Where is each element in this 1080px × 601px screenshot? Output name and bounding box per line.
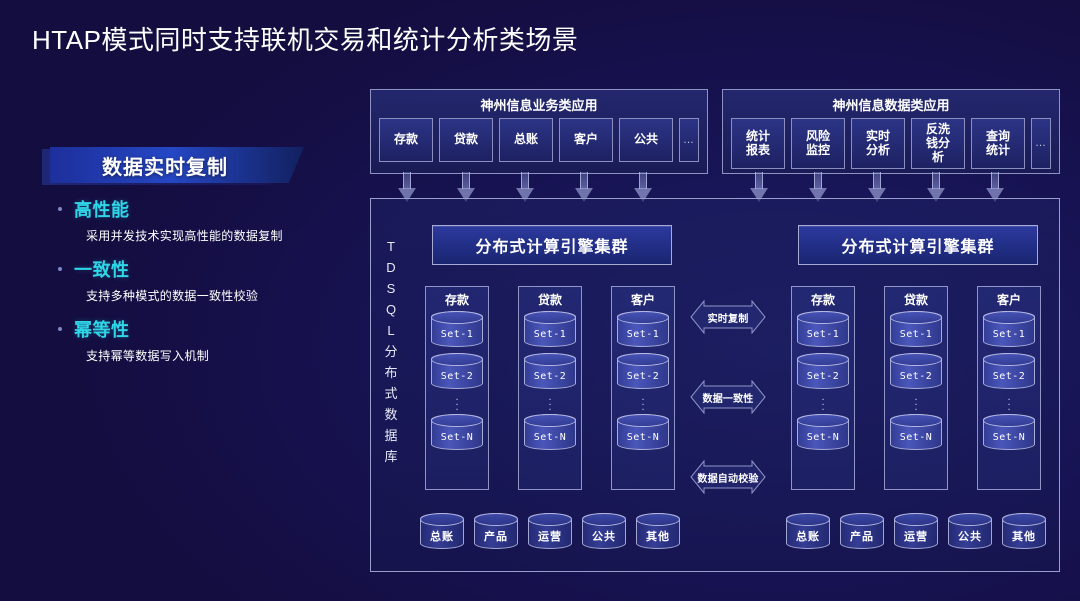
set-cylinder[interactable]: Set-1 [617, 311, 669, 347]
sync-arrow-data-consistency: 数据一致性 [690, 380, 766, 414]
set-label: Set-1 [618, 323, 668, 346]
set-cylinder[interactable]: Set-1 [890, 311, 942, 347]
set-label: Set-N [618, 426, 668, 449]
set-cylinder[interactable]: Set-N [983, 414, 1035, 450]
list-item: 幂等性 支持幂等数据写入机制 [58, 316, 358, 364]
sync-arrow-realtime-replication: 实时复制 [690, 300, 766, 334]
bullet-title: 幂等性 [74, 316, 130, 342]
feature-bullet-list: 高性能 采用并发技术实现高性能的数据复制 一致性 支持多种模式的数据一致性校验 … [58, 196, 358, 376]
tdsql-char: 式 [380, 383, 402, 404]
bottom-cylinder-ledger-right[interactable]: 总账 [786, 513, 830, 549]
sync-arrow-auto-verification: 数据自动校验 [690, 460, 766, 494]
bottom-cylinder-label: 公共 [949, 524, 991, 548]
bottom-cylinder-label: 产品 [475, 524, 517, 548]
set-column-title: 客户 [978, 291, 1040, 308]
set-column-title: 存款 [792, 291, 854, 308]
list-item: 高性能 采用并发技术实现高性能的数据复制 [58, 196, 358, 244]
set-label: Set-2 [618, 365, 668, 388]
vertical-dots-icon: ... [519, 395, 581, 410]
set-label: Set-N [984, 426, 1034, 449]
app-box-public[interactable]: 公共 [619, 118, 673, 162]
set-label: Set-N [891, 426, 941, 449]
set-label: Set-2 [984, 365, 1034, 388]
slide-canvas: HTAP模式同时支持联机交易和统计分析类场景 数据实时复制 高性能 采用并发技术… [0, 0, 1080, 601]
tdsql-char: Q [380, 299, 402, 320]
app-group-data: 神州信息数据类应用 统计报表 风险监控 实时分析 反洗钱分析 查询统计 … [722, 89, 1060, 174]
set-cylinder[interactable]: Set-N [890, 414, 942, 450]
set-cylinder[interactable]: Set-2 [890, 353, 942, 389]
set-column-title: 贷款 [519, 291, 581, 308]
bottom-cylinder-label: 总账 [787, 524, 829, 548]
bottom-cylinder-label: 其他 [1003, 524, 1045, 548]
bottom-cylinder-operation-right[interactable]: 运营 [894, 513, 938, 549]
bottom-cylinder-label: 总账 [421, 524, 463, 548]
bottom-cylinder-label: 其他 [637, 524, 679, 548]
vertical-dots-icon: ... [426, 395, 488, 410]
bottom-cylinder-label: 运营 [895, 524, 937, 548]
set-cylinder[interactable]: Set-N [797, 414, 849, 450]
vertical-dots-icon: ... [792, 395, 854, 410]
bullet-dot-icon [58, 207, 62, 211]
bottom-cylinder-public-right[interactable]: 公共 [948, 513, 992, 549]
bullet-title: 一致性 [74, 256, 130, 282]
bottom-cylinder-ledger-left[interactable]: 总账 [420, 513, 464, 549]
set-column-loan-left: 贷款 Set-1 Set-2 ... Set-N [518, 286, 582, 490]
set-label: Set-1 [432, 323, 482, 346]
tdsql-char: L [380, 320, 402, 341]
bullet-description: 支持多种模式的数据一致性校验 [86, 287, 358, 304]
tdsql-char: 据 [380, 425, 402, 446]
set-label: Set-2 [798, 365, 848, 388]
app-box-deposit[interactable]: 存款 [379, 118, 433, 162]
bottom-cylinder-product-right[interactable]: 产品 [840, 513, 884, 549]
set-label: Set-N [432, 426, 482, 449]
set-label: Set-1 [891, 323, 941, 346]
bottom-cylinder-label: 产品 [841, 524, 883, 548]
set-cylinder[interactable]: Set-2 [797, 353, 849, 389]
banner-shape: 数据实时复制 [50, 147, 304, 183]
app-box-more-icon[interactable]: … [679, 118, 699, 162]
set-cylinder[interactable]: Set-2 [431, 353, 483, 389]
app-box-more-icon[interactable]: … [1031, 118, 1051, 169]
set-label: Set-2 [525, 365, 575, 388]
app-box-realtime-analysis[interactable]: 实时分析 [851, 118, 905, 169]
app-group-title: 神州信息数据类应用 [723, 90, 1059, 118]
sync-arrow-label: 数据自动校验 [690, 460, 766, 494]
set-column-customer-right: 客户 Set-1 Set-2 ... Set-N [977, 286, 1041, 490]
bottom-cylinder-operation-left[interactable]: 运营 [528, 513, 572, 549]
set-cylinder[interactable]: Set-1 [524, 311, 576, 347]
app-box-ledger[interactable]: 总账 [499, 118, 553, 162]
app-box-query-statistics[interactable]: 查询统计 [971, 118, 1025, 169]
set-cylinder[interactable]: Set-N [524, 414, 576, 450]
bullet-description: 支持幂等数据写入机制 [86, 347, 358, 364]
set-label: Set-N [525, 426, 575, 449]
set-cylinder[interactable]: Set-2 [983, 353, 1035, 389]
bottom-cylinder-label: 运营 [529, 524, 571, 548]
set-cylinder[interactable]: Set-2 [524, 353, 576, 389]
engine-cluster-right[interactable]: 分布式计算引擎集群 [798, 225, 1038, 265]
bottom-cylinder-public-left[interactable]: 公共 [582, 513, 626, 549]
app-box-loan[interactable]: 贷款 [439, 118, 493, 162]
tdsql-char: 库 [380, 446, 402, 467]
engine-cluster-left[interactable]: 分布式计算引擎集群 [432, 225, 672, 265]
set-column-title: 客户 [612, 291, 674, 308]
tdsql-char: 布 [380, 362, 402, 383]
bullet-title: 高性能 [74, 196, 130, 222]
set-label: Set-1 [525, 323, 575, 346]
bottom-cylinder-product-left[interactable]: 产品 [474, 513, 518, 549]
app-group-business: 神州信息业务类应用 存款 贷款 总账 客户 公共 … [370, 89, 708, 174]
tdsql-char: D [380, 257, 402, 278]
vertical-dots-icon: ... [978, 395, 1040, 410]
bottom-cylinder-other-left[interactable]: 其他 [636, 513, 680, 549]
list-item: 一致性 支持多种模式的数据一致性校验 [58, 256, 358, 304]
set-column-customer-left: 客户 Set-1 Set-2 ... Set-N [611, 286, 675, 490]
vertical-dots-icon: ... [885, 395, 947, 410]
tdsql-vertical-label: T D S Q L 分 布 式 数 据 库 [380, 236, 402, 467]
set-column-deposit-left: 存款 Set-1 Set-2 ... Set-N [425, 286, 489, 490]
sync-arrow-label: 数据一致性 [690, 380, 766, 414]
app-group-title: 神州信息业务类应用 [371, 90, 707, 118]
sync-arrow-label: 实时复制 [690, 300, 766, 334]
set-label: Set-1 [798, 323, 848, 346]
set-column-title: 贷款 [885, 291, 947, 308]
banner-label: 数据实时复制 [102, 151, 228, 180]
set-label: Set-2 [432, 365, 482, 388]
set-cylinder[interactable]: Set-N [617, 414, 669, 450]
app-box-customer[interactable]: 客户 [559, 118, 613, 162]
bullet-dot-icon [58, 267, 62, 271]
set-column-loan-right: 贷款 Set-1 Set-2 ... Set-N [884, 286, 948, 490]
bullet-description: 采用并发技术实现高性能的数据复制 [86, 227, 358, 244]
set-column-title: 存款 [426, 291, 488, 308]
page-title: HTAP模式同时支持联机交易和统计分析类场景 [32, 20, 578, 57]
set-label: Set-N [798, 426, 848, 449]
tdsql-char: S [380, 278, 402, 299]
app-box-risk-monitor[interactable]: 风险监控 [791, 118, 845, 169]
set-label: Set-1 [984, 323, 1034, 346]
bullet-dot-icon [58, 327, 62, 331]
tdsql-char: 数 [380, 404, 402, 425]
tdsql-char: T [380, 236, 402, 257]
section-banner: 数据实时复制 [42, 147, 304, 185]
set-cylinder[interactable]: Set-1 [431, 311, 483, 347]
bottom-cylinder-other-right[interactable]: 其他 [1002, 513, 1046, 549]
set-cylinder[interactable]: Set-1 [983, 311, 1035, 347]
set-cylinder[interactable]: Set-N [431, 414, 483, 450]
set-column-deposit-right: 存款 Set-1 Set-2 ... Set-N [791, 286, 855, 490]
app-box-anti-money-laundering[interactable]: 反洗钱分析 [911, 118, 965, 169]
set-cylinder[interactable]: Set-2 [617, 353, 669, 389]
tdsql-char: 分 [380, 341, 402, 362]
app-box-statistics-report[interactable]: 统计报表 [731, 118, 785, 169]
bottom-cylinder-label: 公共 [583, 524, 625, 548]
set-label: Set-2 [891, 365, 941, 388]
vertical-dots-icon: ... [612, 395, 674, 410]
set-cylinder[interactable]: Set-1 [797, 311, 849, 347]
